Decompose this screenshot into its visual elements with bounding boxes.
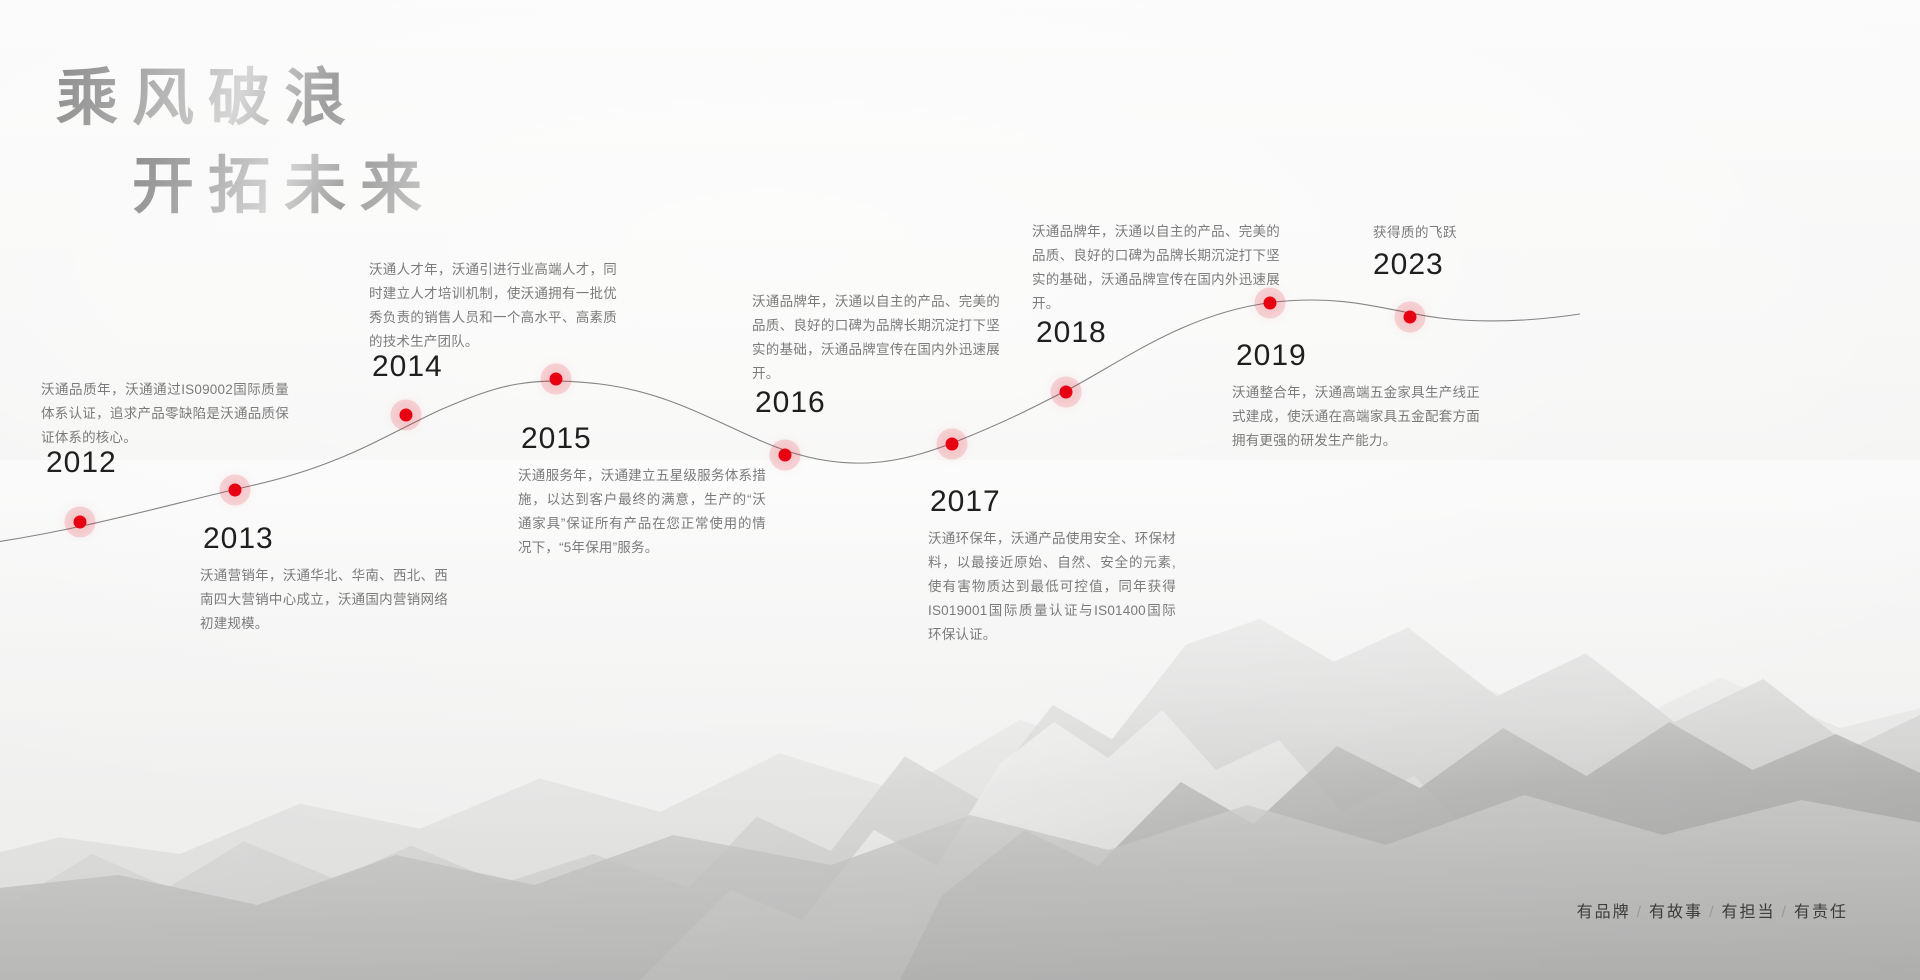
- timeline-desc-2013: 沃通营销年，沃通华北、华南、西北、西南四大营销中心成立，沃通国内营销网络初建规模…: [200, 564, 448, 636]
- headline-line-2: 开拓未来: [132, 150, 436, 226]
- timeline-dot-2018[interactable]: [1060, 386, 1073, 399]
- timeline-desc-2017: 沃通环保年，沃通产品使用安全、环保材料，以最接近原始、自然、安全的元素,使有害物…: [928, 527, 1176, 647]
- headline-line-1: 乘风破浪: [56, 62, 436, 138]
- footer-item-2: 有担当: [1722, 904, 1776, 921]
- timeline-year-2013: 2013: [203, 524, 274, 554]
- poster-headline: 乘风破浪 开拓未来: [56, 62, 436, 225]
- footer-separator: /: [1637, 904, 1643, 921]
- timeline-year-2016: 2016: [755, 388, 826, 418]
- timeline-dot-2023[interactable]: [1404, 311, 1417, 324]
- footer-item-0: 有品牌: [1577, 904, 1631, 921]
- timeline-desc-2016: 沃通品牌年，沃通以自主的产品、完美的品质、良好的口碑为品牌长期沉淀打下坚实的基础…: [752, 290, 1000, 386]
- timeline-year-2015: 2015: [521, 424, 592, 454]
- timeline-dot-2015[interactable]: [550, 373, 563, 386]
- timeline-dot-2019[interactable]: [1264, 297, 1277, 310]
- timeline-dot-2017[interactable]: [946, 438, 959, 451]
- footer-tagline: 有品牌/有故事/有担当/有责任: [1577, 898, 1848, 922]
- timeline-year-2012: 2012: [46, 448, 117, 478]
- timeline-dot-2014[interactable]: [400, 409, 413, 422]
- timeline-desc-2015: 沃通服务年，沃通建立五星级服务体系措施，以达到客户最终的满意，生产的“沃通家具”…: [518, 464, 766, 560]
- timeline-year-2018: 2018: [1036, 318, 1107, 348]
- footer-item-1: 有故事: [1649, 904, 1703, 921]
- timeline-year-2023: 2023: [1373, 250, 1444, 280]
- timeline-dot-2016[interactable]: [779, 449, 792, 462]
- timeline-year-2017: 2017: [930, 487, 1001, 517]
- timeline-kicker-2023: 获得质的飞跃: [1373, 222, 1457, 244]
- footer-separator: /: [1709, 904, 1715, 921]
- timeline-desc-2014: 沃通人才年，沃通引进行业高端人才，同时建立人才培训机制，使沃通拥有一批优秀负责的…: [369, 258, 617, 354]
- timeline-desc-2019: 沃通整合年，沃通高端五金家具生产线正式建成，使沃通在高端家具五金配套方面拥有更强…: [1232, 381, 1480, 453]
- footer-separator: /: [1782, 904, 1788, 921]
- timeline-dot-2012[interactable]: [74, 516, 87, 529]
- footer-item-3: 有责任: [1794, 904, 1848, 921]
- timeline-desc-2018: 沃通品牌年，沃通以自主的产品、完美的品质、良好的口碑为品牌长期沉淀打下坚实的基础…: [1032, 220, 1280, 316]
- timeline-year-2014: 2014: [372, 352, 443, 382]
- timeline-desc-2012: 沃通品质年，沃通通过IS09002国际质量体系认证，追求产品零缺陷是沃通品质保证…: [41, 378, 289, 450]
- timeline-year-2019: 2019: [1236, 341, 1307, 371]
- poster-canvas: 乘风破浪 开拓未来 2012沃通品质年，沃通通过IS09002国际质量体系认证，…: [0, 0, 1920, 980]
- timeline-dot-2013[interactable]: [229, 484, 242, 497]
